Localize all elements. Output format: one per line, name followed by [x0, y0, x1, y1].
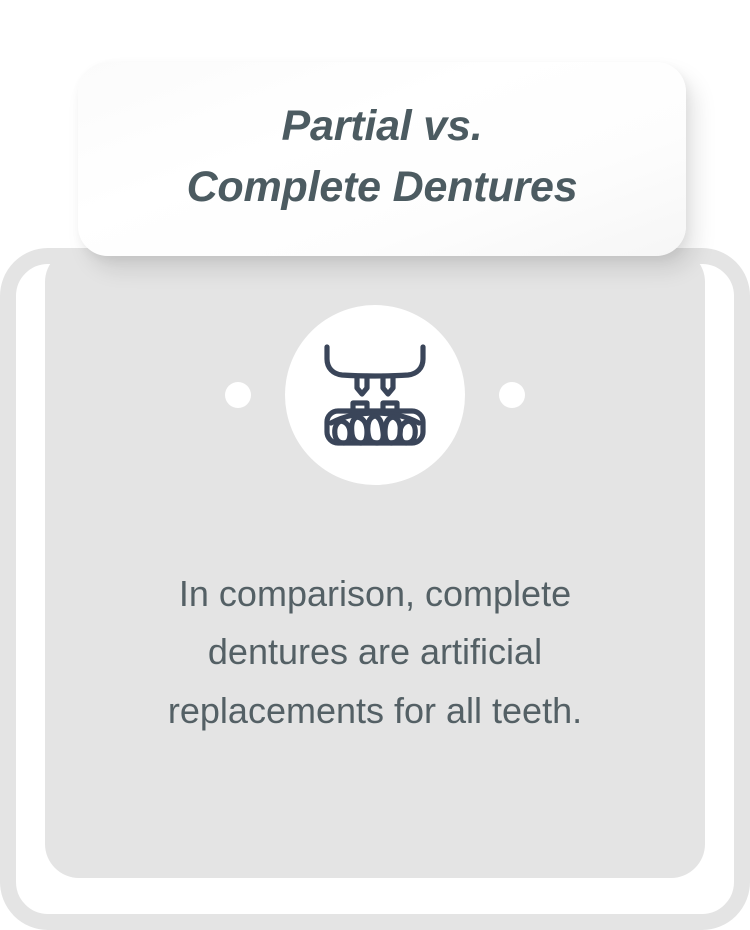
icon-area	[45, 305, 705, 485]
dentures-icon	[319, 343, 431, 447]
slide-canvas: In comparison, complete dentures are art…	[0, 0, 750, 930]
accent-dot-right	[499, 382, 525, 408]
accent-dot-left	[225, 382, 251, 408]
title-card: Partial vs. Complete Dentures	[78, 62, 686, 256]
card-body-text: In comparison, complete dentures are art…	[75, 565, 675, 740]
page-title: Partial vs. Complete Dentures	[187, 96, 578, 222]
icon-circle	[285, 305, 465, 485]
body-text-block: In comparison, complete dentures are art…	[75, 565, 675, 740]
